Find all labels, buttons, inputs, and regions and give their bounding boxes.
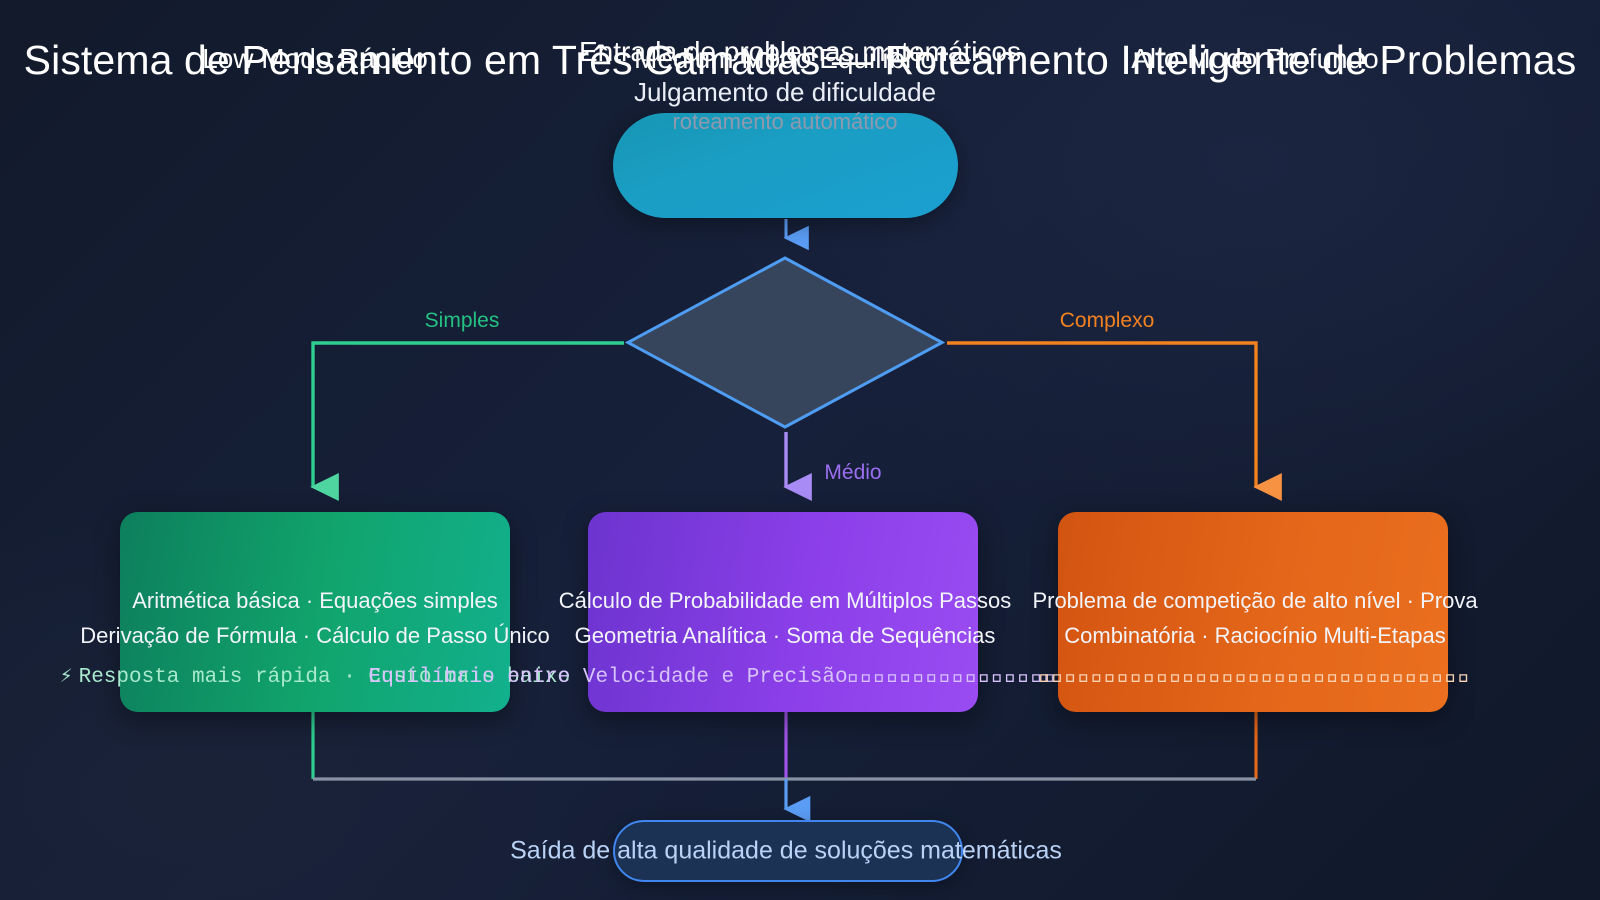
node-medium-line1: Cálculo de Probabilidade em Múltiplos Pa… xyxy=(559,587,1011,615)
node-output-label: Saída de alta qualidade de soluções mate… xyxy=(510,836,1062,867)
edge-label-complexo: Complexo xyxy=(1060,308,1155,334)
node-medium-title: Medium Modo Equilíbrio xyxy=(634,42,936,76)
node-high-line1: Problema de competição de alto nível · P… xyxy=(1032,587,1477,615)
node-high-note:     xyxy=(1039,664,1471,692)
edge-decision-low xyxy=(313,343,624,487)
node-medium-line2: Geometria Analítica · Soma de Sequências xyxy=(575,622,996,650)
diamond-shape xyxy=(625,255,945,430)
node-high-title: Alto Modo Profundo xyxy=(1131,42,1379,76)
flowchart-canvas: Sistema de Pensamento em Três Camadas — … xyxy=(0,0,1600,900)
edge-label-simples: Simples xyxy=(425,308,500,334)
node-low-title: Low Modo Rápido xyxy=(202,42,428,76)
node-low-line2: Derivação de Fórmula · Cálculo de Passo … xyxy=(80,622,550,650)
node-decision-sublabel: roteamento automático xyxy=(672,108,897,136)
node-decision-label: Julgamento de dificuldade xyxy=(634,76,936,108)
node-low-line1: Aritmética básica · Equações simples xyxy=(132,587,498,615)
node-high-line2: Combinatória · Raciocínio Multi-Etapas xyxy=(1064,622,1446,650)
node-medium-note-text: Equilíbrio entre Velocidade e Precisão xyxy=(369,666,848,689)
edge-label-medio: Médio xyxy=(824,460,881,486)
node-high-note-tofu:     xyxy=(1039,666,1471,689)
edge-merge-output xyxy=(313,779,1256,809)
bolt-icon: ⚡ xyxy=(60,666,73,689)
node-decision[interactable] xyxy=(625,255,945,430)
edge-decision-high xyxy=(947,343,1256,487)
